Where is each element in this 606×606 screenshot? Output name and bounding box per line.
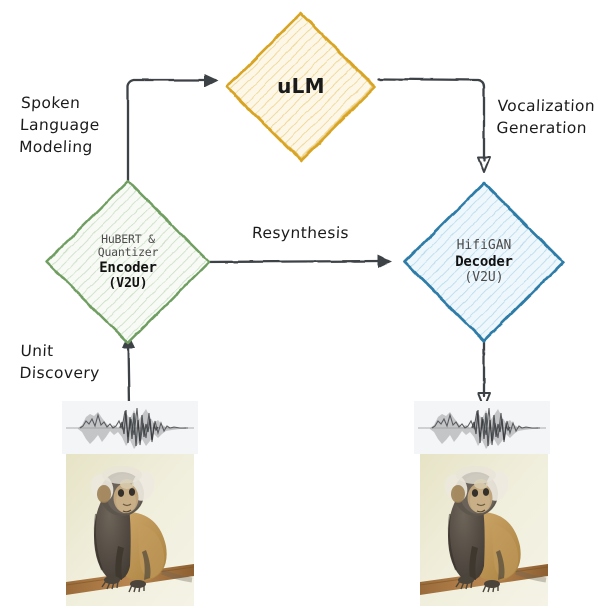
ulm-label-group: uLM: [277, 75, 325, 99]
input-photo-marmoset: [66, 454, 194, 606]
encoder-label-group: HuBERT & Quantizer Encoder (V2U): [98, 233, 159, 292]
label-unit-discovery: Unit Discovery: [19, 340, 101, 384]
arrow-decoder-to-waveform: [478, 340, 490, 408]
encoder-subtitle-line1: HuBERT &: [98, 233, 159, 247]
output-waveform-box: [414, 401, 550, 454]
arrow-ulm-to-decoder: [378, 79, 490, 172]
node-encoder[interactable]: HuBERT & Quantizer Encoder (V2U): [42, 176, 214, 348]
node-decoder[interactable]: HifiGAN Decoder (V2U): [400, 178, 568, 346]
node-ulm[interactable]: uLM: [222, 8, 380, 166]
slm-line1: Spoken: [20, 92, 101, 114]
decoder-title: Decoder: [455, 254, 513, 271]
audio-waveform-icon: [414, 401, 550, 454]
ud-line1: Unit: [20, 340, 101, 362]
decoder-tag: (V2U): [455, 270, 513, 285]
arrow-encoder-to-decoder: [200, 255, 392, 268]
label-resynthesis: Resynthesis: [252, 222, 350, 244]
audio-waveform-icon: [62, 401, 198, 454]
vg-line2: Generation: [496, 117, 595, 139]
diagram-canvas: uLM HuBERT & Quantizer Encoder (V2U): [0, 0, 606, 606]
label-vocalization-generation: Vocalization Generation: [496, 95, 596, 139]
vg-line1: Vocalization: [497, 95, 596, 117]
slm-line2: Language: [20, 114, 101, 136]
encoder-title: Encoder: [98, 260, 159, 277]
output-photo-marmoset: [420, 454, 548, 606]
label-spoken-language-modeling: Spoken Language Modeling: [19, 92, 102, 158]
decoder-label-group: HifiGAN Decoder (V2U): [455, 238, 513, 285]
marmoset-monkey-photo: [420, 454, 548, 606]
marmoset-monkey-photo: [66, 454, 194, 606]
input-waveform-box: [62, 401, 198, 454]
encoder-subtitle-line2: Quantizer: [98, 246, 159, 260]
decoder-subtitle: HifiGAN: [455, 238, 513, 253]
encoder-tag: (V2U): [98, 276, 159, 291]
ud-line2: Discovery: [19, 362, 100, 384]
slm-line3: Modeling: [19, 136, 100, 158]
ulm-label: uLM: [277, 75, 325, 99]
